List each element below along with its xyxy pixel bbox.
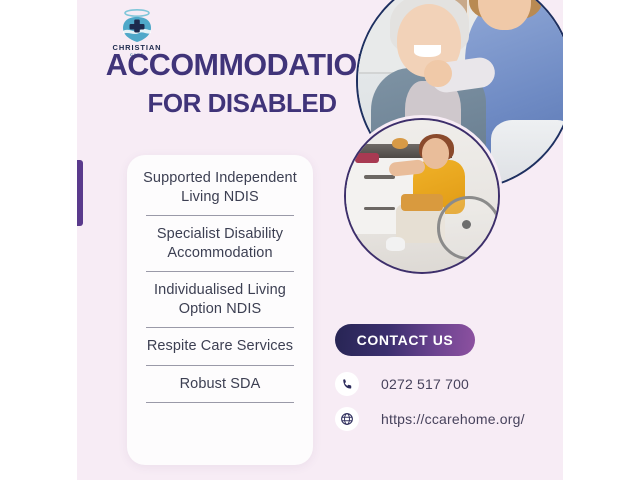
- phone-icon: [335, 372, 359, 396]
- list-divider: [146, 365, 294, 366]
- list-item: Specialist Disability Accommodation: [137, 225, 303, 262]
- globe-icon: [335, 407, 359, 431]
- shield-cross-halo-icon: [117, 6, 157, 46]
- contact-us-button[interactable]: CONTACT US: [335, 324, 475, 356]
- list-divider: [146, 271, 294, 272]
- list-divider: [146, 402, 294, 403]
- flyer-poster: CHRISTIAN CARE ACCOMMODATION FOR DISABLE…: [77, 0, 563, 480]
- list-item: Supported Independent Living NDIS: [137, 169, 303, 206]
- phone-contact-row[interactable]: 0272 517 700: [335, 372, 469, 396]
- services-card: Supported Independent Living NDIS Specia…: [127, 155, 313, 465]
- poster-canvas: CHRISTIAN CARE ACCOMMODATION FOR DISABLE…: [0, 0, 640, 480]
- website-contact-row[interactable]: https://ccarehome.org/: [335, 407, 525, 431]
- phone-number: 0272 517 700: [381, 376, 469, 392]
- left-accent-bar: [77, 160, 83, 226]
- woman-in-wheelchair-in-kitchen-photo: [344, 118, 500, 274]
- list-divider: [146, 327, 294, 328]
- website-url: https://ccarehome.org/: [381, 411, 525, 427]
- list-item: Respite Care Services: [137, 337, 303, 356]
- list-item: Individualised Living Option NDIS: [137, 281, 303, 318]
- list-item: Robust SDA: [137, 375, 303, 394]
- list-divider: [146, 215, 294, 216]
